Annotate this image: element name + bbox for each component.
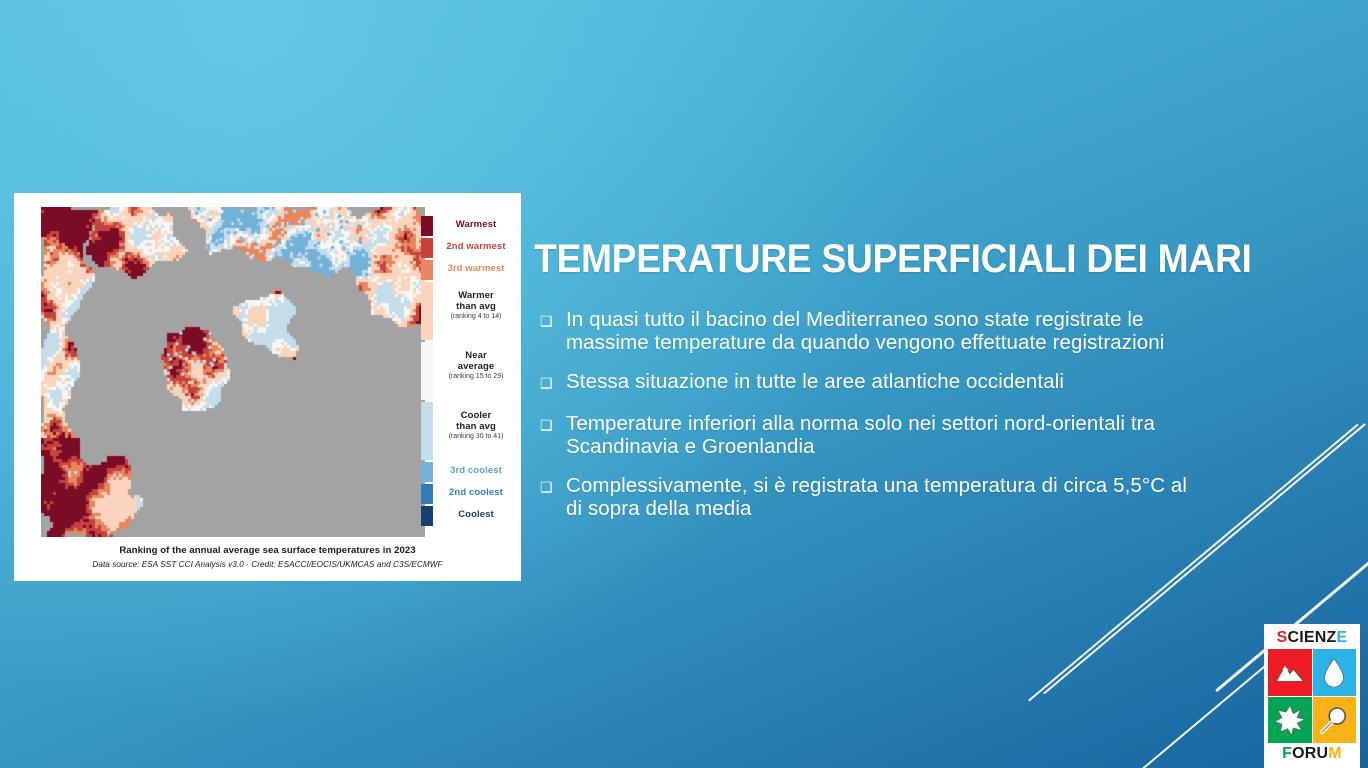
- legend-label: Warmest: [435, 219, 517, 230]
- bullet-square-icon: ❑: [538, 370, 566, 396]
- figure-caption-title: Ranking of the annual average sea surfac…: [14, 545, 521, 556]
- legend-row-5: Coolerthan avg(ranking 30 to 41): [435, 410, 517, 441]
- logo-forum-part-2: M: [1328, 745, 1342, 763]
- legend-swatch-8: [421, 506, 433, 526]
- legend-label: Nearaverage: [435, 350, 517, 372]
- logo-word-forum: FORUM: [1268, 744, 1356, 764]
- legend-label: Warmerthan avg: [435, 290, 517, 312]
- figure-card: Warmest2nd warmest3rd warmestWarmerthan …: [14, 193, 521, 581]
- bullet-item-3: ❑Temperature inferiori alla norma solo n…: [538, 412, 1208, 458]
- legend-swatch-6: [421, 462, 433, 482]
- legend-label: 3rd warmest: [435, 263, 517, 274]
- legend-row-6: 3rd coolest: [435, 465, 517, 476]
- legend-row-8: Coolest: [435, 509, 517, 520]
- bullet-text: Complessivamente, si è registrata una te…: [566, 474, 1208, 520]
- slide-canvas: Warmest2nd warmest3rd warmestWarmerthan …: [0, 0, 1368, 768]
- mountain-icon: [1268, 649, 1312, 696]
- logo-scienze-part-1: CIENZ: [1288, 629, 1337, 647]
- legend-label: 2nd coolest: [435, 487, 517, 498]
- legend-row-4: Nearaverage(ranking 15 to 29): [435, 350, 517, 381]
- scienze-forum-logo: SCIENZE FORUM: [1264, 624, 1360, 768]
- bullet-square-icon: ❑: [538, 412, 566, 438]
- legend-row-1: 2nd warmest: [435, 241, 517, 252]
- sst-ranking-map: [41, 207, 425, 537]
- bullet-text: Temperature inferiori alla norma solo ne…: [566, 412, 1208, 458]
- legend-labels: Warmest2nd warmest3rd warmestWarmerthan …: [435, 207, 517, 537]
- bullet-list: ❑In quasi tutto il bacino del Mediterran…: [538, 308, 1208, 520]
- bullet-item-2: ❑Stessa situazione in tutte le aree atla…: [538, 370, 1208, 396]
- legend-swatch-7: [421, 484, 433, 504]
- page-title: TEMPERATURE SUPERFICIALI DEI MARI: [534, 236, 1241, 282]
- legend-swatch-3: [421, 282, 433, 340]
- logo-scienze-part-0: S: [1277, 629, 1288, 647]
- legend-sublabel: (ranking 15 to 29): [435, 372, 517, 381]
- logo-word-scienze: SCIENZE: [1268, 628, 1356, 648]
- legend-label: 2nd warmest: [435, 241, 517, 252]
- legend-row-2: 3rd warmest: [435, 263, 517, 274]
- legend-swatch-2: [421, 260, 433, 280]
- legend-label: Coolerthan avg: [435, 410, 517, 432]
- legend-row-3: Warmerthan avg(ranking 4 to 14): [435, 290, 517, 321]
- legend-swatch-4: [421, 342, 433, 400]
- legend-sublabel: (ranking 4 to 14): [435, 312, 517, 321]
- magnifier-icon: [1313, 697, 1357, 744]
- logo-forum-part-1: ORU: [1292, 745, 1328, 763]
- figure-caption-source: Data source: ESA SST CCI Analysis v3.0 ·…: [14, 560, 521, 569]
- bullet-item-1: ❑In quasi tutto il bacino del Mediterran…: [538, 308, 1208, 354]
- bullet-square-icon: ❑: [538, 308, 566, 334]
- logo-icon-grid: [1268, 649, 1356, 743]
- map-legend: Warmest2nd warmest3rd warmestWarmerthan …: [421, 207, 517, 537]
- bullet-square-icon: ❑: [538, 474, 566, 500]
- legend-label: Coolest: [435, 509, 517, 520]
- bullet-text: In quasi tutto il bacino del Mediterrane…: [566, 308, 1208, 354]
- water-drop-icon: [1313, 649, 1357, 696]
- logo-scienze-part-2: E: [1337, 629, 1348, 647]
- logo-forum-part-0: F: [1282, 745, 1292, 763]
- legend-label: 3rd coolest: [435, 465, 517, 476]
- leaf-icon: [1268, 697, 1312, 744]
- bullet-text: Stessa situazione in tutte le aree atlan…: [566, 370, 1208, 393]
- legend-swatch-0: [421, 216, 433, 236]
- legend-row-0: Warmest: [435, 219, 517, 230]
- sst-map-canvas: [41, 207, 425, 537]
- bullet-item-4: ❑Complessivamente, si è registrata una t…: [538, 474, 1208, 520]
- legend-colorbar: [421, 216, 433, 516]
- legend-row-7: 2nd coolest: [435, 487, 517, 498]
- legend-swatch-5: [421, 402, 433, 460]
- legend-swatch-1: [421, 238, 433, 258]
- legend-sublabel: (ranking 30 to 41): [435, 432, 517, 441]
